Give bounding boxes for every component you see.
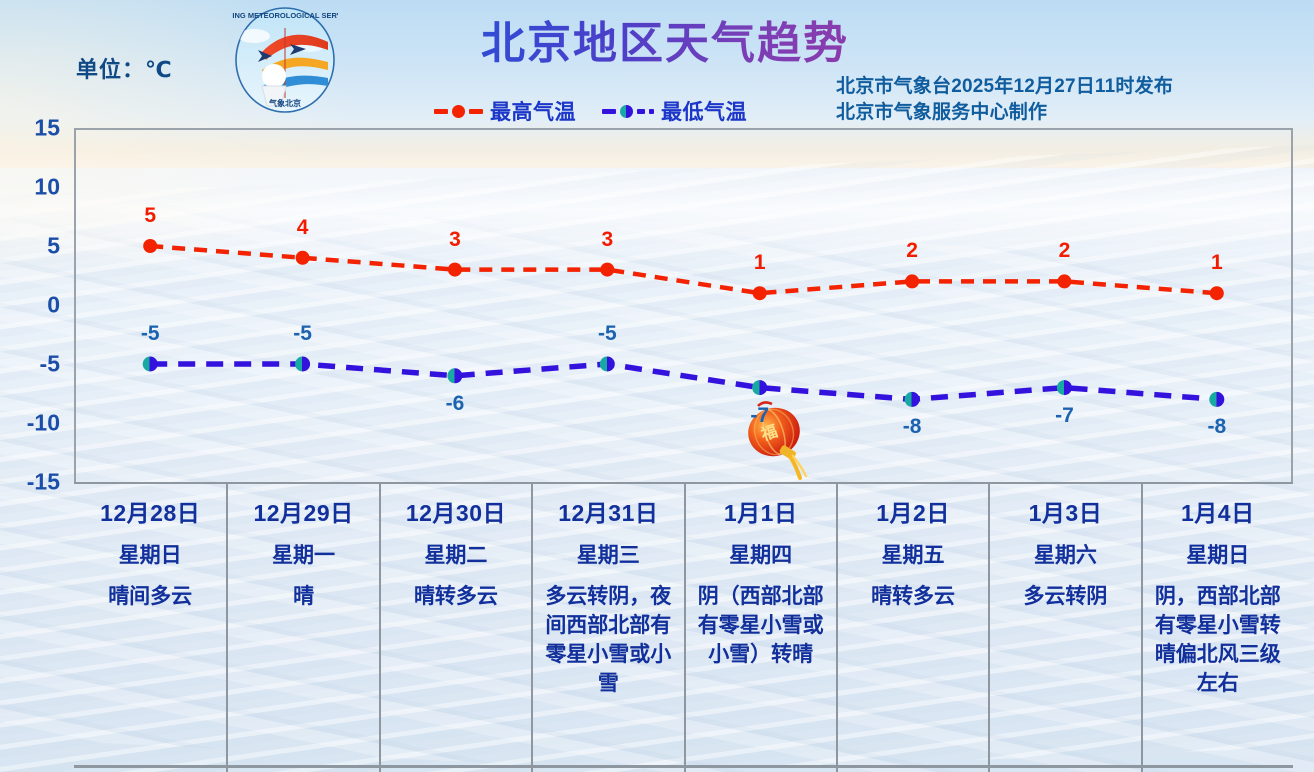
page-title: 北京地区天气趋势: [455, 16, 875, 72]
data-point-low: [295, 357, 310, 372]
data-point-high: [1210, 286, 1224, 300]
legend-label-high: 最高气温: [490, 96, 576, 126]
data-label-high: 3: [449, 228, 461, 252]
data-point-high: [296, 251, 310, 265]
legend-line-low-icon: [602, 105, 654, 118]
data-point-high: [600, 263, 614, 277]
data-label-high: 1: [1211, 251, 1223, 275]
y-axis-tick-label: -10: [27, 410, 60, 437]
logo-text-en: BEIJING METEOROLOGICAL SERVICE: [232, 11, 338, 20]
forecast-column: 1月4日星期日阴，西部北部有零星小雪转晴偏北风三级左右: [1141, 484, 1293, 772]
data-point-high: [753, 286, 767, 300]
data-point-low: [752, 380, 767, 395]
forecast-column: 1月1日星期四阴（西部北部有零星小雪或小雪）转晴: [684, 484, 836, 772]
forecast-weekday: 星期五: [844, 542, 982, 570]
data-label-high: 5: [144, 204, 156, 228]
unit-label: 单位：℃: [76, 52, 173, 84]
forecast-date: 12月31日: [539, 498, 677, 528]
data-point-low: [143, 357, 158, 372]
forecast-weather: 多云转阴: [996, 582, 1134, 611]
logo-text-cn: 气象北京: [268, 98, 301, 108]
forecast-weather: 晴转多云: [387, 582, 525, 611]
table-column-tick: [988, 765, 990, 772]
series-layer: [74, 128, 1293, 482]
forecast-date: 1月2日: [844, 498, 982, 528]
data-label-high: 4: [297, 216, 309, 240]
data-label-high: 2: [1059, 239, 1071, 263]
weather-forecast-graphic: 单位：℃: [0, 0, 1314, 772]
forecast-date: 1月4日: [1149, 498, 1287, 528]
forecast-weekday: 星期二: [387, 542, 525, 570]
y-axis-tick-label: -15: [27, 469, 60, 496]
y-axis: 151050-5-10-15: [0, 118, 68, 492]
forecast-weekday: 星期四: [692, 542, 830, 570]
publisher-line-2: 北京市气象服务中心制作: [836, 100, 1173, 126]
chart-legend: 最高气温 最低气温: [434, 96, 747, 126]
forecast-column: 12月30日星期二晴转多云: [379, 484, 531, 772]
table-column-tick: [226, 765, 228, 772]
data-label-low: -5: [141, 322, 160, 346]
data-label-low: -8: [1207, 415, 1226, 439]
y-axis-tick-label: 15: [34, 115, 60, 142]
forecast-weather: 多云转阴，夜间西部北部有零星小雪或小雪: [539, 582, 677, 698]
data-label-low: -5: [293, 322, 312, 346]
forecast-weekday: 星期三: [539, 542, 677, 570]
forecast-weather: 晴转多云: [844, 582, 982, 611]
forecast-date: 12月30日: [387, 498, 525, 528]
forecast-date: 1月1日: [692, 498, 830, 528]
table-column-tick: [684, 765, 686, 772]
legend-line-high-icon: [434, 105, 483, 118]
forecast-date: 12月28日: [80, 498, 220, 528]
table-column-tick: [1141, 765, 1143, 772]
publisher-info: 北京市气象台2025年12月27日11时发布 北京市气象服务中心制作: [836, 74, 1173, 126]
forecast-table: 12月28日星期日晴间多云12月29日星期一晴12月30日星期二晴转多云12月3…: [74, 482, 1293, 772]
data-point-high: [143, 239, 157, 253]
forecast-weekday: 星期日: [80, 542, 220, 570]
data-label-low: -6: [446, 392, 465, 416]
series-line-low: [150, 364, 1217, 399]
data-point-low: [447, 368, 462, 383]
series-line-high: [150, 246, 1217, 293]
data-label-low: -7: [750, 404, 769, 428]
data-point-low: [600, 357, 615, 372]
y-axis-tick-label: 5: [47, 233, 60, 260]
data-label-low: -5: [598, 322, 617, 346]
data-point-high: [1057, 274, 1071, 288]
forecast-weather: 晴间多云: [80, 582, 220, 611]
legend-item-high: 最高气温: [434, 96, 576, 126]
data-point-low: [1057, 380, 1072, 395]
y-axis-tick-label: -5: [40, 351, 60, 378]
forecast-date: 12月29日: [234, 498, 372, 528]
forecast-weekday: 星期六: [996, 542, 1134, 570]
data-label-high: 2: [906, 239, 918, 263]
forecast-column: 1月3日星期六多云转阴: [988, 484, 1140, 772]
beijing-meteorological-service-logo: BEIJING METEOROLOGICAL SERVICE 气象北京: [232, 6, 338, 114]
legend-label-low: 最低气温: [661, 96, 747, 126]
forecast-column: 12月31日星期三多云转阴，夜间西部北部有零星小雪或小雪: [531, 484, 683, 772]
table-column-tick: [379, 765, 381, 772]
data-point-high: [905, 274, 919, 288]
data-label-high: 1: [754, 251, 766, 275]
data-label-low: -7: [1055, 404, 1074, 428]
data-point-low: [1209, 392, 1224, 407]
y-axis-tick-label: 0: [47, 292, 60, 319]
data-label-high: 3: [601, 228, 613, 252]
forecast-weather: 晴: [234, 582, 372, 611]
data-label-low: -8: [903, 415, 922, 439]
forecast-weekday: 星期日: [1149, 542, 1287, 570]
table-column-tick: [836, 765, 838, 772]
forecast-weekday: 星期一: [234, 542, 372, 570]
forecast-column: 1月2日星期五晴转多云: [836, 484, 988, 772]
publisher-line-1: 北京市气象台2025年12月27日11时发布: [836, 74, 1173, 100]
data-point-low: [905, 392, 920, 407]
forecast-column: 12月29日星期一晴: [226, 484, 378, 772]
table-column-tick: [531, 765, 533, 772]
forecast-weather: 阴，西部北部有零星小雪转晴偏北风三级左右: [1149, 582, 1287, 698]
forecast-date: 1月3日: [996, 498, 1134, 528]
y-axis-tick-label: 10: [34, 174, 60, 201]
forecast-weather: 阴（西部北部有零星小雪或小雪）转晴: [692, 582, 830, 669]
data-point-high: [448, 263, 462, 277]
legend-item-low: 最低气温: [602, 96, 747, 126]
forecast-column: 12月28日星期日晴间多云: [74, 484, 226, 772]
